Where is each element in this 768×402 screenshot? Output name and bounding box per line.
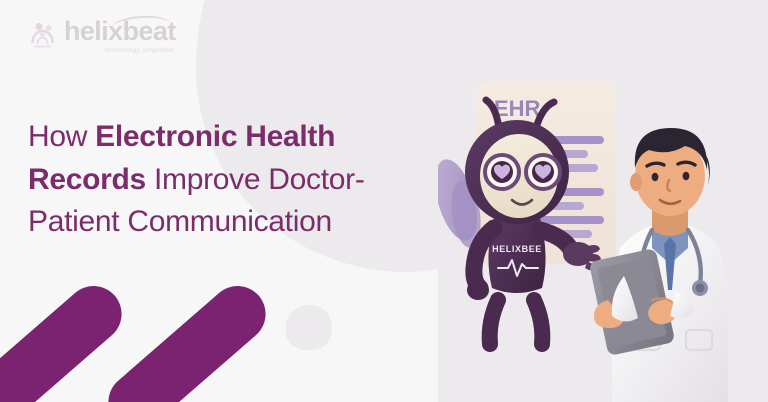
hero-illustration: EHR <box>438 0 768 402</box>
family-people-icon <box>28 19 62 53</box>
headline-part-1: How <box>28 120 95 153</box>
page-title: How Electronic Health Records Improve Do… <box>28 116 428 244</box>
decorative-bar-right <box>97 275 277 402</box>
ehr-line <box>536 216 604 224</box>
logo-tagline: technology simplified <box>105 47 174 54</box>
mascot-chest-label: HELIXBEE <box>492 244 542 254</box>
brand-logo[interactable]: helixbeat technology simplified <box>28 18 176 54</box>
illustration-svg: EHR <box>438 0 768 402</box>
banner-canvas: helixbeat technology simplified How Elec… <box>0 0 768 402</box>
background-blob-small <box>279 299 338 357</box>
decorative-bar-left <box>0 275 133 402</box>
ehr-card-title: EHR <box>494 96 541 121</box>
